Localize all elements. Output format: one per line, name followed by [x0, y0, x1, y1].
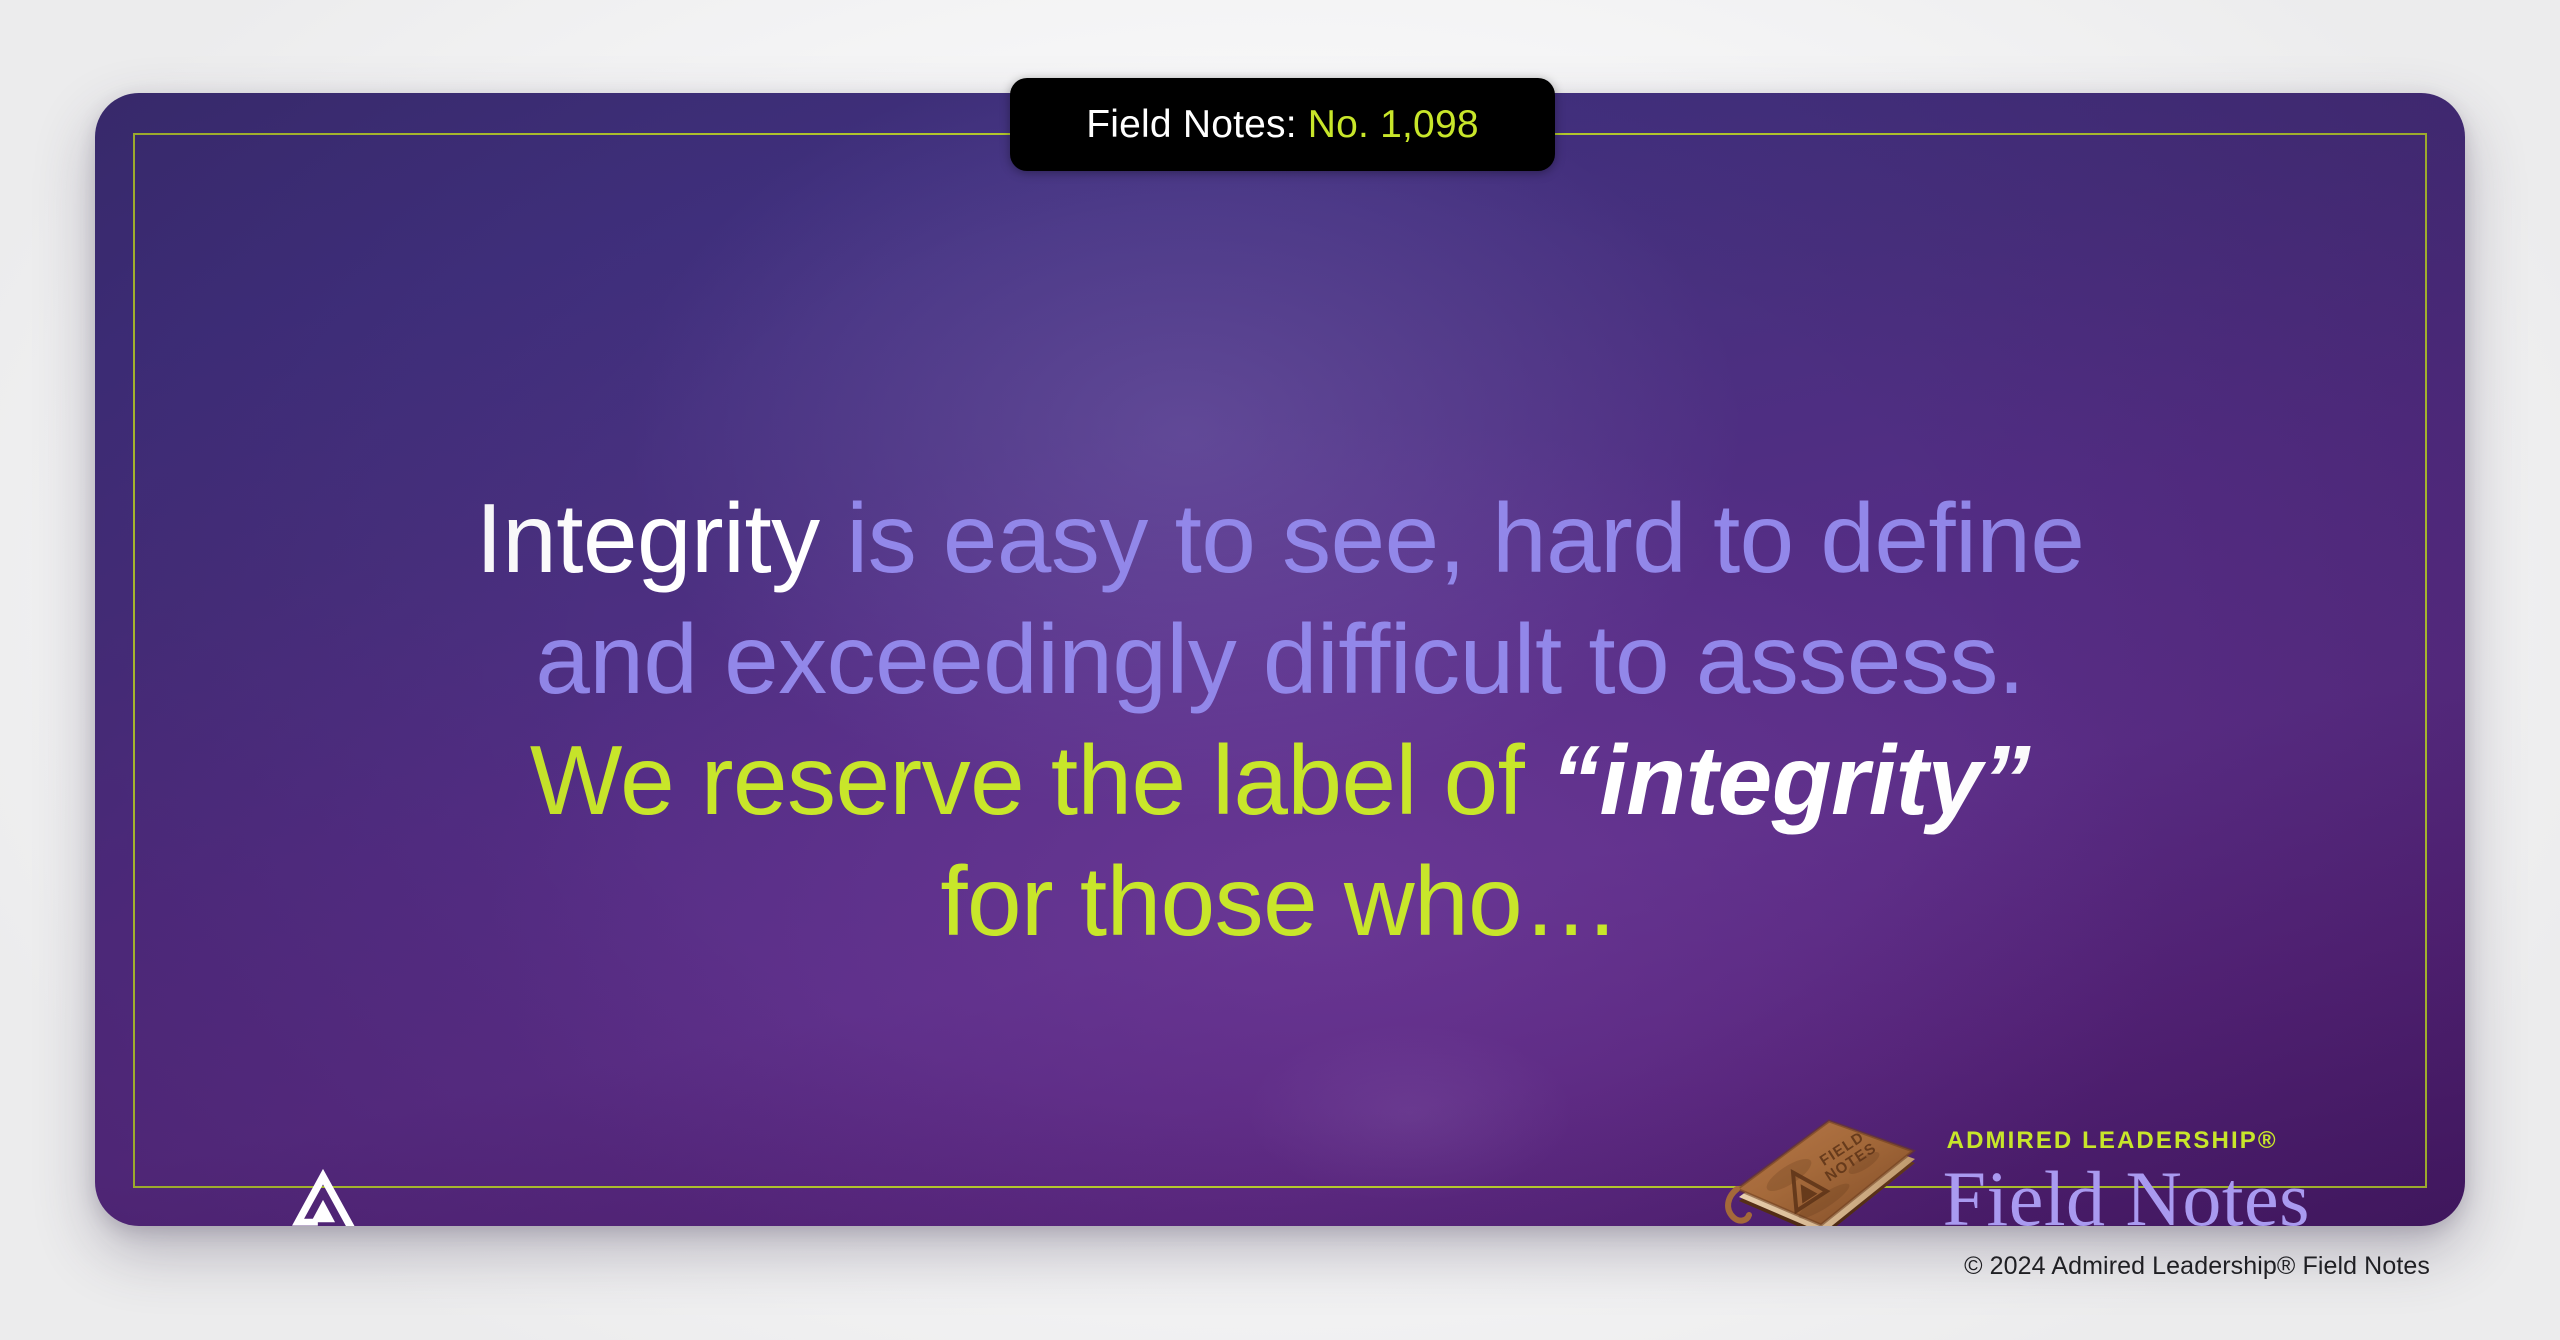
quote-line-3: We reserve the label of “integrity” [220, 720, 2340, 841]
field-notes-number-badge: Field Notes: No. 1,098 [1010, 78, 1555, 171]
badge-number: No. 1,098 [1308, 103, 1479, 146]
slide-stage: Integrity is easy to see, hard to define… [0, 0, 2560, 1340]
quote-line-1-rest: is easy to see, hard to define [820, 483, 2085, 593]
badge-label: Field Notes: [1086, 103, 1296, 146]
admired-leadership-logo-icon [280, 1162, 366, 1226]
quote-line-3-lead: We reserve the label of [530, 725, 1551, 835]
quote-line-4: for those who… [220, 841, 2340, 962]
field-notes-book-icon: FIELD NOTES [1719, 1105, 1929, 1226]
brand-kicker: ADMIRED LEADERSHIP® [1947, 1129, 2310, 1153]
badge-text: Field Notes: No. 1,098 [1086, 103, 1478, 147]
quote-line-2: and exceedingly difficult to assess. [220, 599, 2340, 720]
footer-copyright: © 2024 Admired Leadership® Field Notes [1964, 1252, 2430, 1281]
quote-text: Integrity is easy to see, hard to define… [220, 478, 2340, 962]
quote-word-integrity: Integrity [476, 483, 820, 593]
brand-title: Field Notes [1943, 1163, 2310, 1226]
background-glow [1245, 1023, 1575, 1203]
quote-card: Integrity is easy to see, hard to define… [95, 93, 2465, 1226]
quote-line-2-text: and exceedingly difficult to assess. [535, 604, 2024, 714]
quote-line-1: Integrity is easy to see, hard to define [220, 478, 2340, 599]
brand-text-block: ADMIRED LEADERSHIP® Field Notes [1943, 1129, 2310, 1226]
quote-emphasis-integrity: “integrity” [1551, 725, 2030, 835]
field-notes-branding: FIELD NOTES ADMIRED LEADERSHIP® Field No… [1719, 1105, 2310, 1226]
quote-line-4-text: for those who… [940, 846, 1619, 956]
